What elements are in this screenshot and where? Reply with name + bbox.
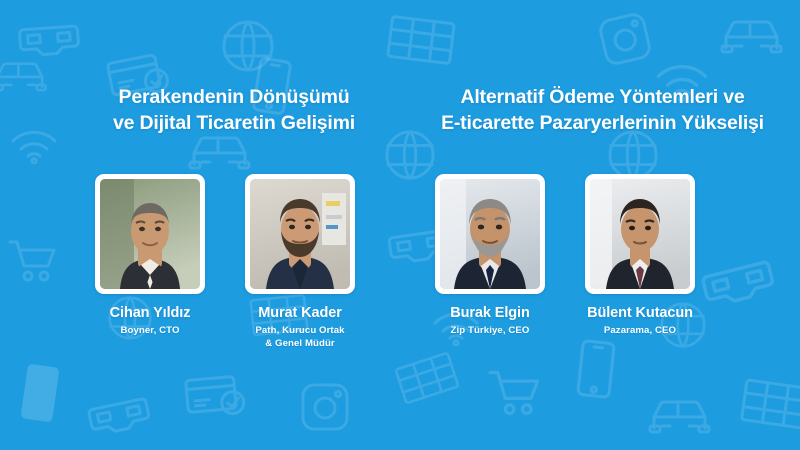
smartphone-icon [18, 360, 62, 426]
camera-instagram-icon [300, 382, 350, 432]
speaker-name: Burak Elgin [425, 305, 555, 322]
globe-icon [608, 130, 658, 180]
panel-title-left: Perakendenin Dönüşümü ve Dijital Ticaret… [58, 84, 410, 136]
car-front-icon [720, 16, 786, 56]
speaker-card-bulent-kutacun: Bülent Kutacun Pazarama, CEO [575, 174, 705, 338]
speaker-card-burak-elgin: Burak Elgin Zip Türkiye, CEO [425, 174, 555, 338]
slide-canvas: Perakendenin Dönüşümü ve Dijital Ticaret… [0, 0, 800, 450]
speaker-name: Murat Kader [235, 305, 365, 322]
speaker-role: Boyner, CTO [85, 325, 215, 338]
grid-table-icon [386, 14, 457, 66]
portrait-bulent-kutacun [590, 179, 690, 289]
vr-goggles-icon [17, 20, 81, 58]
portrait-burak-elgin [440, 179, 540, 289]
panel-title-right: Alternatif Ödeme Yöntemleri ve E-ticaret… [405, 84, 800, 136]
speaker-role: Zip Türkiye, CEO [425, 325, 555, 338]
speaker-name: Bülent Kutacun [575, 305, 705, 322]
photo-frame [245, 174, 355, 294]
credit-card-check-icon [183, 369, 249, 420]
wifi-icon [10, 130, 58, 164]
speaker-name: Cihan Yıldız [85, 305, 215, 322]
speaker-card-murat-kader: Murat Kader Path, Kurucu Ortak & Genel M… [235, 174, 365, 350]
car-front-icon [648, 396, 714, 436]
title-line: Perakendenin Dönüşümü [58, 84, 410, 110]
speaker-role: & Genel Müdür [235, 338, 365, 351]
photo-frame [585, 174, 695, 294]
title-line: E-ticarette Pazaryerlerinin Yükselişi [405, 110, 800, 136]
title-line: ve Dijital Ticaretin Gelişimi [58, 110, 410, 136]
speaker-card-cihan-yildiz: Cihan Yıldız Boyner, CTO [85, 174, 215, 338]
portrait-murat-kader [250, 179, 350, 289]
vr-goggles-icon [85, 392, 153, 438]
speaker-role: Path, Kurucu Ortak [235, 325, 365, 338]
camera-instagram-icon [595, 9, 655, 69]
photo-frame [435, 174, 545, 294]
shopping-cart-icon [488, 368, 544, 418]
globe-icon [385, 130, 435, 180]
speakers-row: Cihan Yıldız Boyner, CTO [0, 174, 800, 364]
car-front-icon [0, 58, 50, 94]
portrait-cihan-yildiz [100, 179, 200, 289]
photo-frame [95, 174, 205, 294]
speaker-role: Pazarama, CEO [575, 325, 705, 338]
grid-table-icon [739, 378, 800, 431]
title-line: Alternatif Ödeme Yöntemleri ve [405, 84, 800, 110]
car-front-icon [188, 132, 254, 172]
